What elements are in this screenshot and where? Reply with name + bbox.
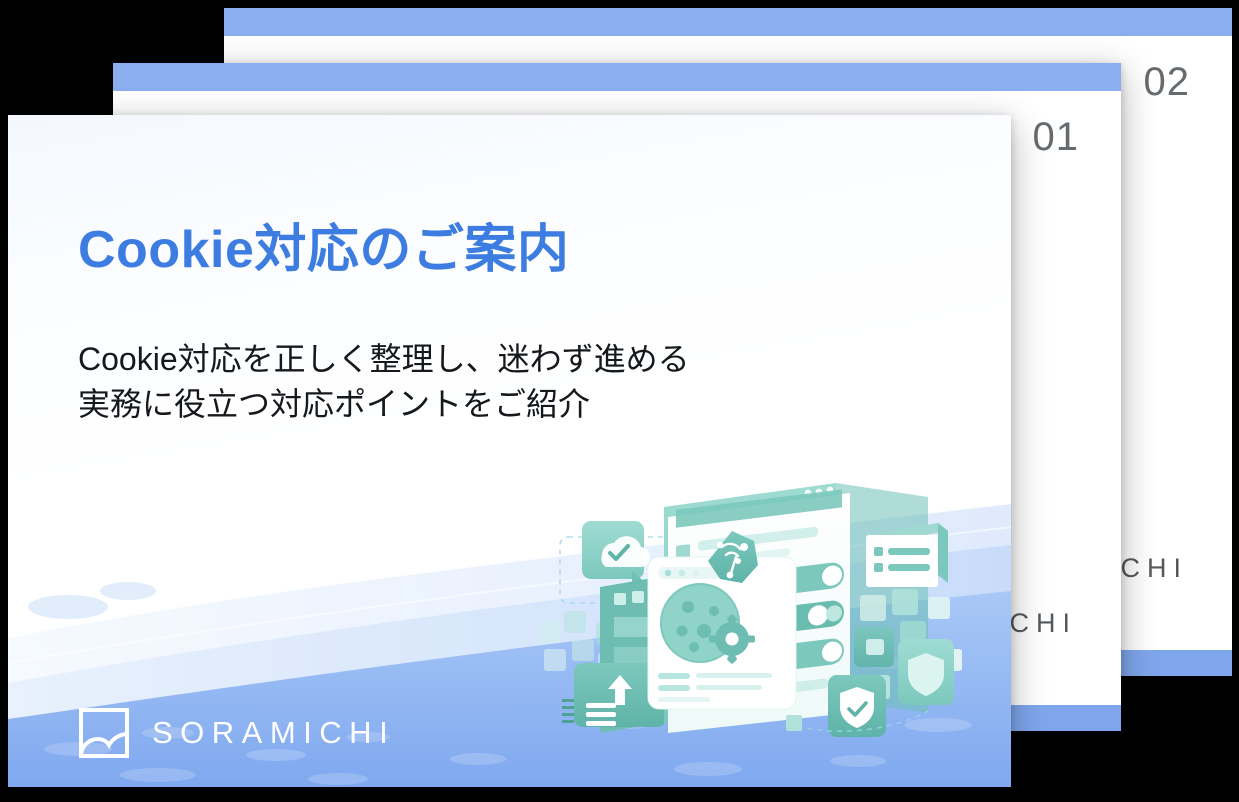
front-slide-canvas: Cookie対応のご案内 Cookie対応を正しく整理し、迷わず進める 実務に役… — [8, 115, 1011, 787]
soramichi-cloud-square-logo-icon — [78, 707, 130, 759]
brand-wordmark: SORAMICHI — [152, 715, 395, 751]
slide-card-front[interactable]: Cookie対応のご案内 Cookie対応を正しく整理し、迷わず進める 実務に役… — [8, 115, 1011, 787]
slide-top-accent-bar — [224, 8, 1232, 36]
page-number-02: 02 — [1144, 60, 1191, 105]
cookie-consent-isometric-illustration — [536, 471, 1006, 741]
page-number-01: 01 — [1033, 115, 1080, 160]
page-subtitle: Cookie対応を正しく整理し、迷わず進める 実務に役立つ対応ポイントをご紹介 — [78, 337, 690, 428]
page-title: Cookie対応のご案内 — [78, 207, 569, 282]
slide-top-accent-bar — [113, 63, 1121, 91]
slide-deck-stack: 02 ICHI 01 ICHI — [0, 0, 1239, 802]
brand-logo[interactable]: SORAMICHI — [78, 707, 395, 759]
